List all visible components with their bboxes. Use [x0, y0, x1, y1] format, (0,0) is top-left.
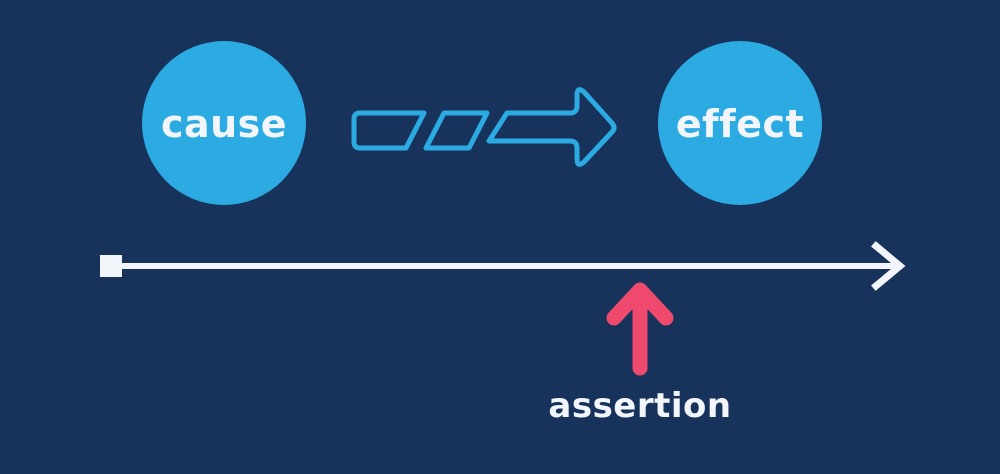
- assertion-caption: assertion: [548, 386, 731, 426]
- cause-effect-assertion-diagram: cause effect: [0, 0, 1000, 474]
- node-effect[interactable]: effect: [658, 41, 822, 205]
- node-cause[interactable]: cause: [142, 41, 306, 205]
- effect-label: effect: [676, 102, 804, 146]
- diagram-canvas: cause effect: [0, 0, 1000, 474]
- cause-label: cause: [161, 102, 287, 146]
- canvas-background: [0, 0, 1000, 474]
